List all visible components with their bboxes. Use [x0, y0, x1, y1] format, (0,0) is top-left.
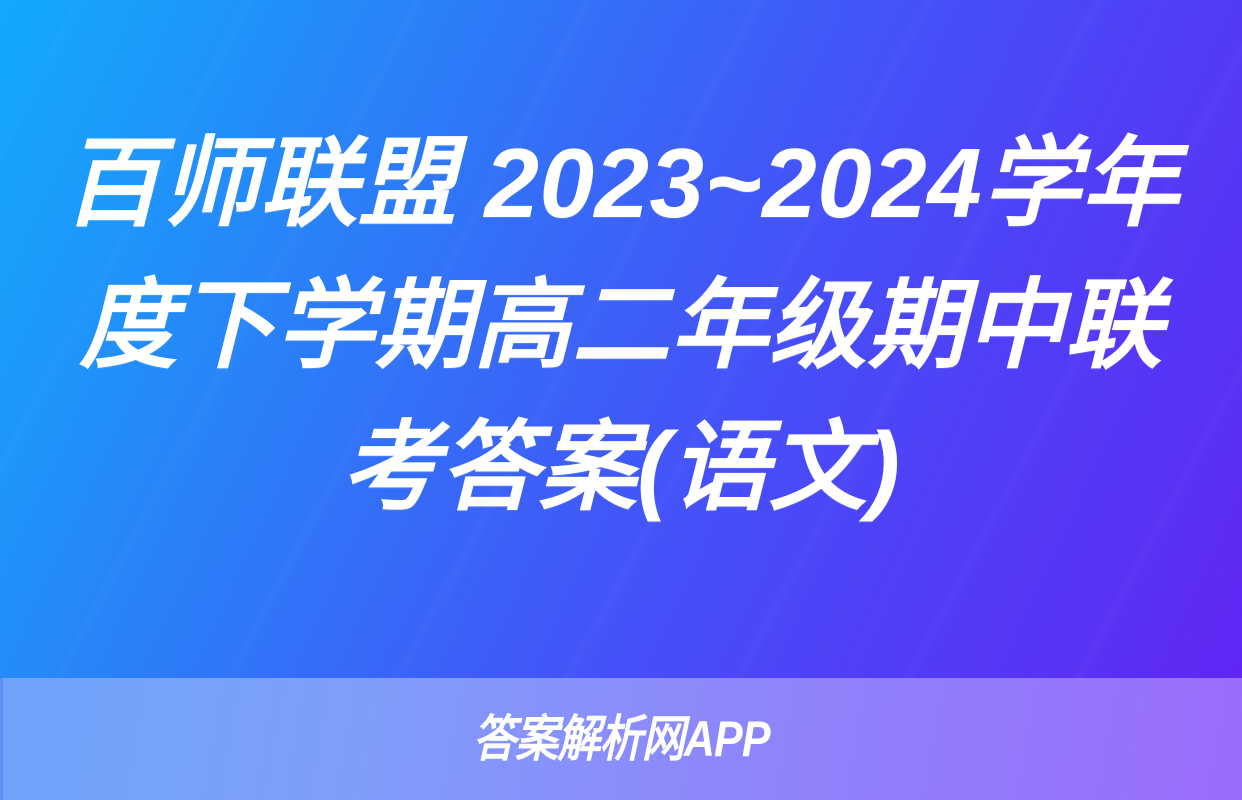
answer-poster: 百师联盟 2023~2024学年度下学期高二年级期中联考答案(语文) 答案解析网… [0, 0, 1242, 800]
watermark-text: 答案解析网APP [473, 714, 770, 764]
watermark-band: 答案解析网APP [0, 678, 1242, 800]
hero-banner: 百师联盟 2023~2024学年度下学期高二年级期中联考答案(语文) [0, 0, 1242, 678]
hero-content: 百师联盟 2023~2024学年度下学期高二年级期中联考答案(语文) [0, 0, 1242, 678]
page-title: 百师联盟 2023~2024学年度下学期高二年级期中联考答案(语文) [52, 112, 1190, 538]
